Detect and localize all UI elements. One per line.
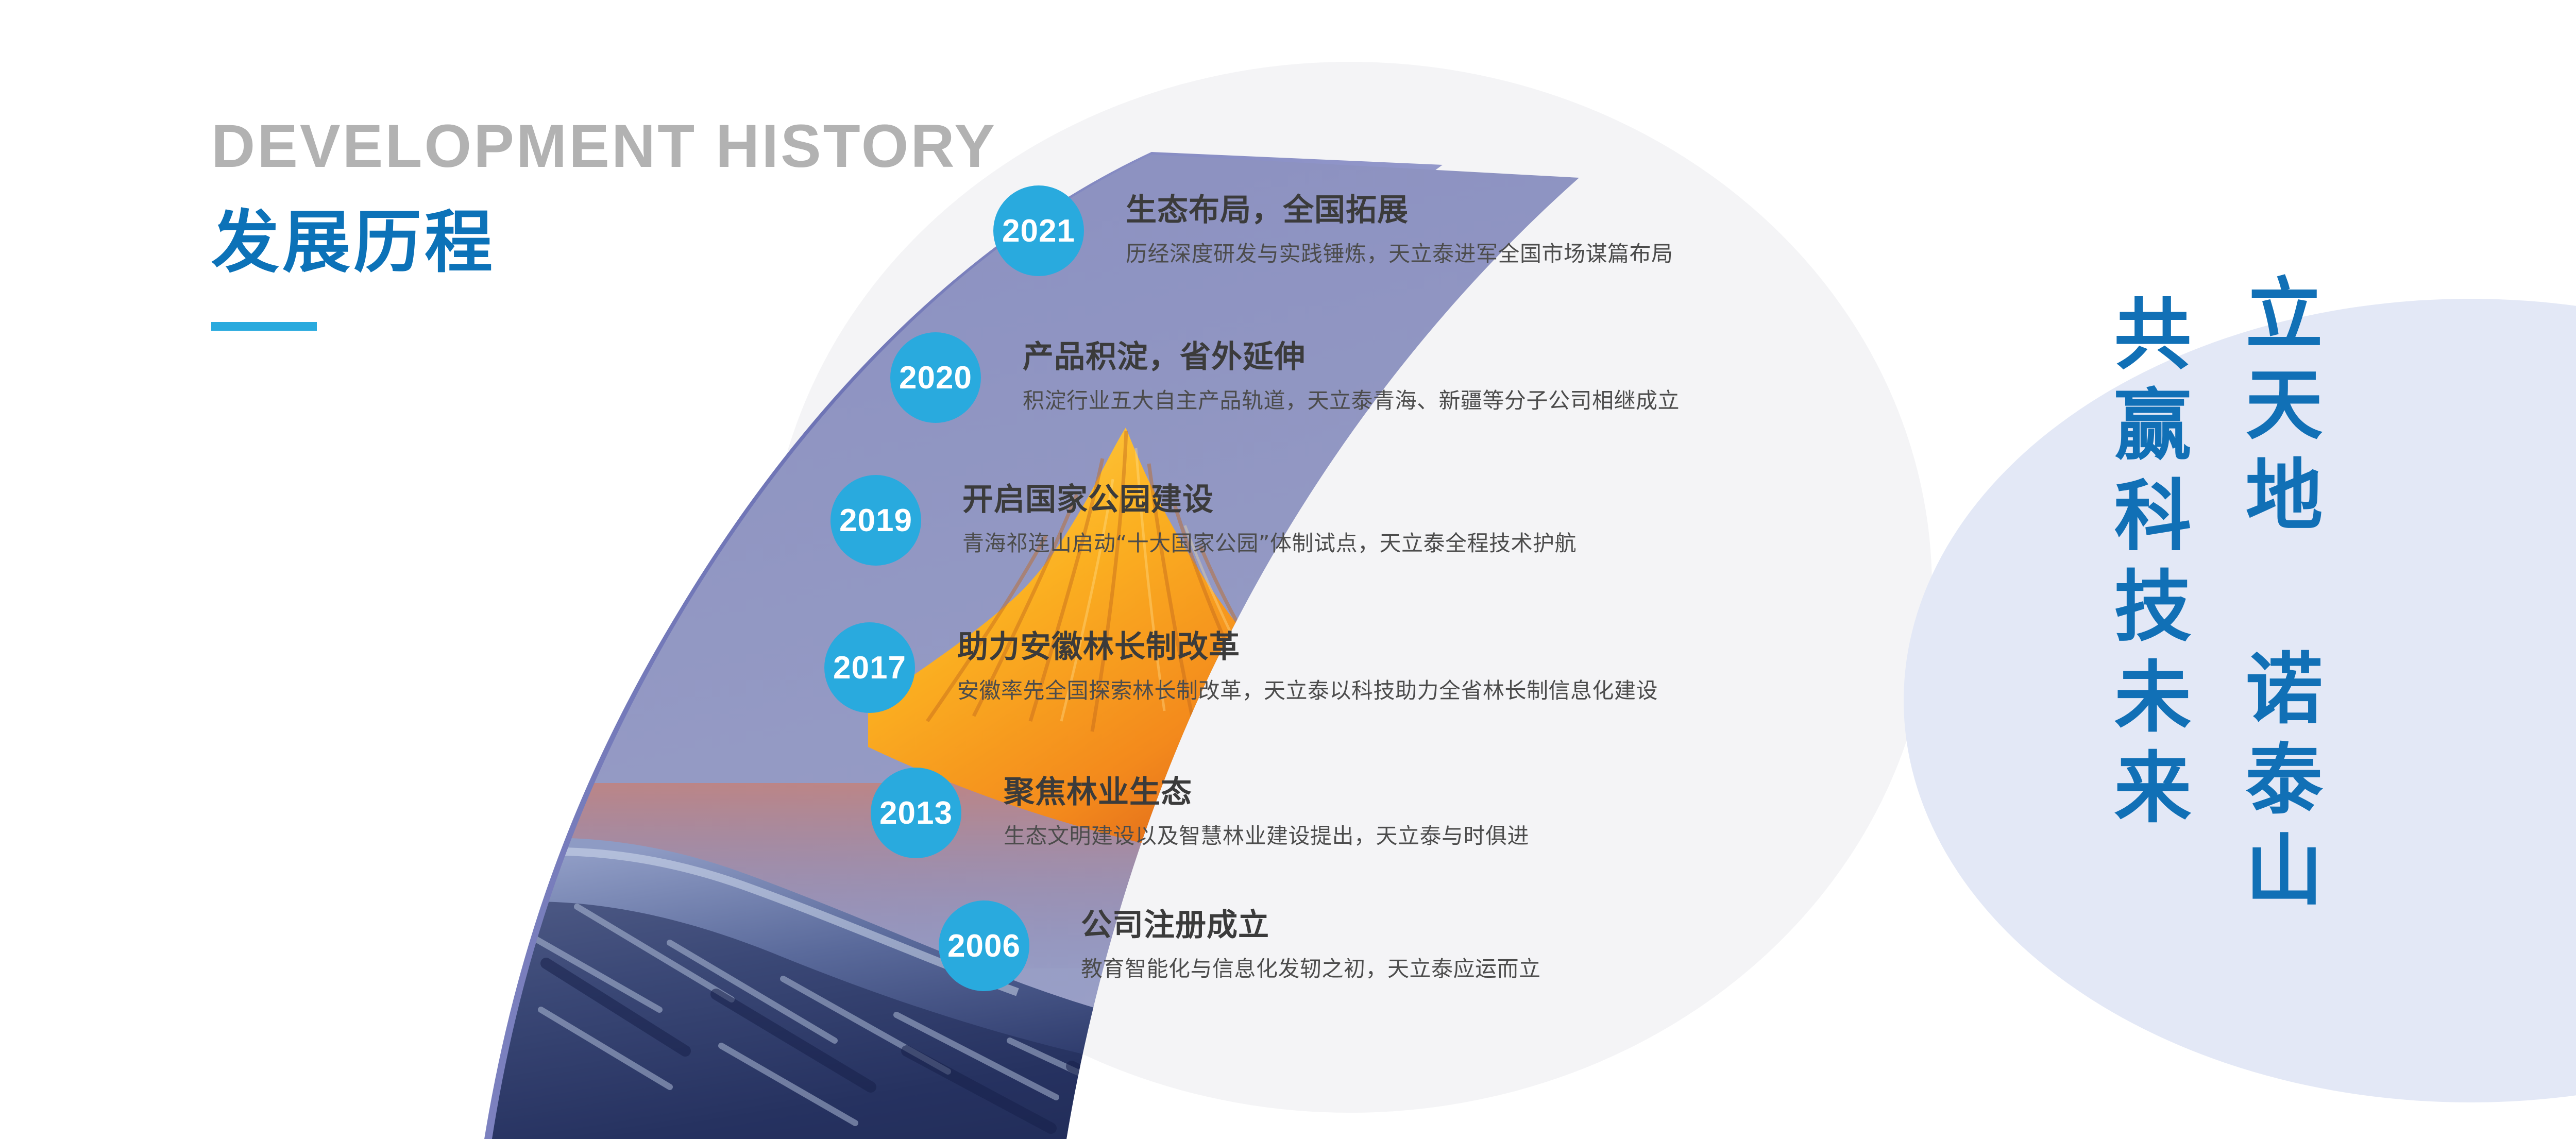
slogan-line-left: 共赢科技未来 bbox=[2107, 294, 2184, 838]
slogan-block: 立天地 诺泰山 共赢科技未来 bbox=[0, 0, 2576, 1139]
slide-canvas: DEVELOPMENT HISTORY 发展历程 2021 生态布局，全国拓展 … bbox=[0, 0, 2576, 1139]
slogan-line-right: 立天地 诺泰山 bbox=[2239, 273, 2316, 920]
